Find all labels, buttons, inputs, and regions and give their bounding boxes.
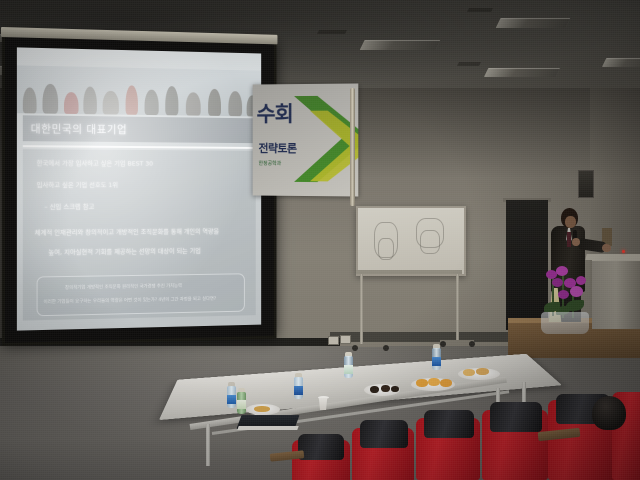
presenter-mic-hand (572, 238, 580, 246)
wall-banner: 수회 전략토론 한정공학과 (253, 83, 359, 196)
slide-body-line: 입사하고 싶은 기업 선호도 1위 (37, 179, 119, 189)
seated-attendee-head (592, 396, 626, 430)
slide-footer-box: 창의적기업 개방적인 조직문화 원리적인 국가경쟁 추진 가치능력 이러한 기업… (37, 273, 245, 316)
power-outlet[interactable] (340, 335, 351, 344)
power-outlet[interactable] (328, 336, 339, 345)
whiteboard-leg (456, 274, 459, 342)
screen-surface: 대한민국의 대표기업 한국에서 가장 입사하고 싶은 기업 BEST 30 입사… (17, 47, 261, 330)
orchid-bloom (576, 276, 586, 285)
slide-divider (23, 145, 256, 149)
banner-shading (253, 83, 359, 196)
banner-pole (350, 88, 355, 206)
slide-footer-line: 이러한 기업들이 요구하는 우리들의 역량은 어떤 것이 있는가? 4년의 그간… (43, 296, 216, 305)
slide-title: 대한민국의 대표기업 (31, 120, 127, 137)
slide-body: 한국에서 가장 입사하고 싶은 기업 BEST 30 입사하고 싶은 기업 선호… (23, 149, 256, 320)
slide-body-line: – 신입 스크랩 참고 (44, 201, 94, 211)
slide-photo-strip (17, 65, 261, 116)
presenter-tie (567, 232, 571, 247)
food-item (254, 406, 270, 412)
open-doorway[interactable] (506, 200, 548, 330)
presenter-face (565, 216, 576, 228)
whiteboard-caster (383, 345, 389, 351)
orange-slice (440, 379, 452, 387)
binder-edge (237, 426, 298, 430)
whiteboard-caster (440, 341, 446, 347)
wall-speaker (578, 170, 594, 198)
slide-body-line: 체계적 인재관리와 창의적이고 개방적인 조직문화를 통해 개인의 역량을 (35, 226, 219, 237)
whiteboard-marker-tray (356, 270, 462, 274)
table-leg (206, 424, 210, 466)
whiteboard-caster (352, 345, 358, 351)
food-item (370, 386, 379, 393)
orchid-bloom (558, 290, 569, 299)
slide-body-line: 한국에서 가장 입사하고 싶은 기업 BEST 30 (37, 157, 154, 167)
whiteboard-scribble (378, 238, 394, 260)
food-item (391, 386, 399, 392)
slide-title-bar: 대한민국의 대표기업 (23, 115, 256, 143)
cookie (463, 369, 475, 376)
orange-slice (428, 378, 440, 386)
lectern-top (585, 254, 640, 260)
whiteboard-leg (360, 274, 363, 346)
whiteboard-caster (469, 341, 475, 347)
seat-headrest (424, 410, 474, 438)
slide-body-line: 높여, 지아실현적 기회를 제공하는 선망의 대상이 되는 기업 (48, 245, 200, 256)
orchid-bloom (552, 278, 563, 287)
seat-headrest (490, 402, 542, 432)
orange-slice (416, 379, 428, 387)
photo-scene: 대한민국의 대표기업 한국에서 가장 입사하고 싶은 기업 BEST 30 입사… (0, 0, 640, 480)
orchid-bloom (556, 266, 568, 276)
cookie (476, 368, 489, 375)
seat-headrest (298, 434, 344, 460)
whiteboard-scribble (420, 230, 440, 254)
flower-wrapping (541, 312, 589, 334)
orchid-bloom (570, 286, 583, 297)
food-item (381, 385, 390, 392)
mobile-whiteboard[interactable] (356, 206, 466, 276)
lectern-power-led (622, 250, 625, 253)
projection-screen: 대한민국의 대표기업 한국에서 가장 입사하고 싶은 기업 BEST 30 입사… (2, 34, 277, 346)
seat-headrest (360, 420, 408, 448)
slide-footer-line: 창의적기업 개방적인 조직문화 원리적인 국가경쟁 추진 가치능력 (65, 283, 182, 291)
lectern[interactable] (592, 258, 640, 329)
